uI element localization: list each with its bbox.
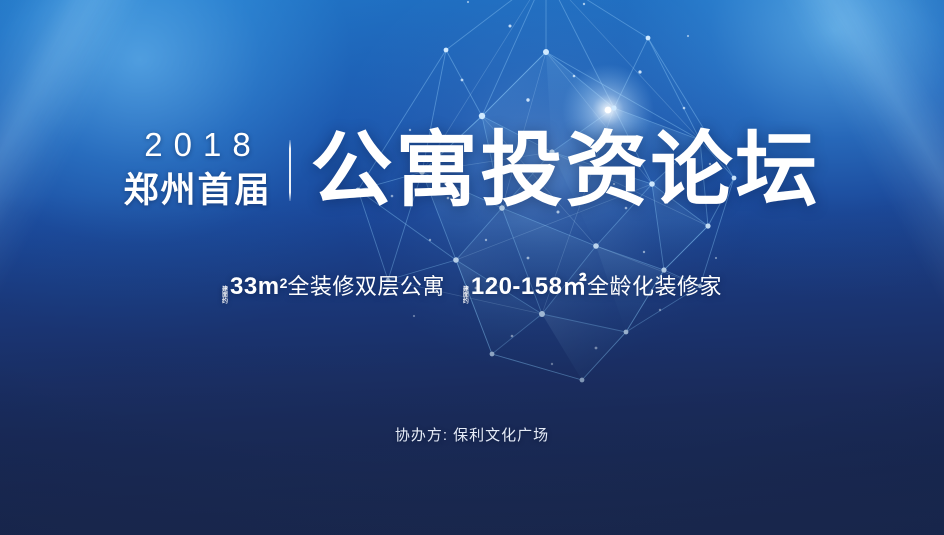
subtitle-row: 建面约 33m 2 全装修双层公寓 建面约 120-158㎡ 全龄化装修家	[0, 266, 944, 308]
subtitle-item-2: 建面约 120-158㎡ 全龄化装修家	[463, 266, 722, 308]
year-label: 2018	[133, 128, 261, 163]
page-title: 公寓投资论坛	[311, 128, 821, 213]
subtitle-item-1: 建面约 33m 2 全装修双层公寓	[222, 269, 445, 308]
area-note-2: 建面约	[463, 287, 470, 305]
headline-block: 2018 郑州首届 公寓投资论坛	[0, 128, 944, 213]
area-number-2: 120-158㎡	[471, 266, 587, 301]
headline-divider	[289, 140, 291, 201]
area-desc-2: 全龄化装修家	[587, 269, 722, 301]
poster-content: 2018 郑州首届 公寓投资论坛 建面约 33m 2 全装修双层公寓 建面约 1…	[0, 0, 944, 535]
area-note-1: 建面约	[222, 287, 229, 305]
area-number-1: 33m	[230, 273, 280, 301]
sponsor-line: 协办方: 保利文化广场	[0, 424, 944, 445]
poster-canvas: 2018 郑州首届 公寓投资论坛 建面约 33m 2 全装修双层公寓 建面约 1…	[0, 0, 944, 535]
headline-left-group: 2018 郑州首届	[123, 128, 288, 213]
city-edition-label: 郑州首届	[123, 168, 271, 214]
area-desc-1: 全装修双层公寓	[287, 269, 445, 301]
